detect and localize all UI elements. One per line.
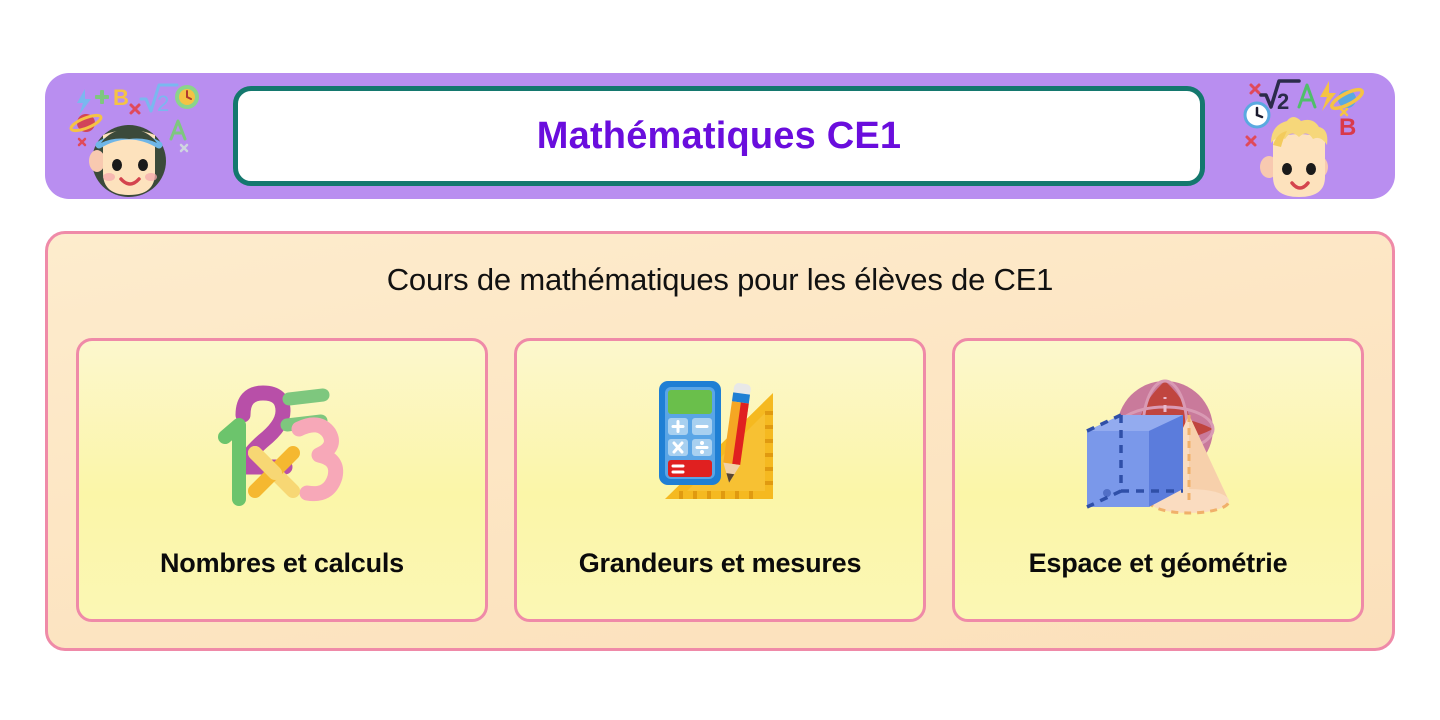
svg-text:B: B (113, 85, 129, 110)
page-title-box: Mathématiques CE1 (233, 86, 1205, 186)
calculator-pencil-ruler-icon (635, 367, 805, 517)
svg-text:2: 2 (1277, 89, 1289, 114)
3d-shapes-sphere-cube-cone-icon (1073, 367, 1243, 517)
student-boy-with-math-symbols-illustration: 2 B (1207, 73, 1387, 199)
topic-card-grandeurs-et-mesures[interactable]: Grandeurs et mesures (514, 338, 926, 622)
panel-subtitle: Cours de mathématiques pour les élèves d… (48, 262, 1392, 298)
page-root: B 2 (0, 0, 1440, 720)
header-bar: B 2 (45, 73, 1395, 199)
topic-card-label: Nombres et calculs (79, 548, 485, 579)
topic-card-label: Grandeurs et mesures (517, 548, 923, 579)
svg-text:B: B (1339, 114, 1356, 141)
page-title: Mathématiques CE1 (537, 115, 902, 158)
topic-card-label: Espace et géométrie (955, 548, 1361, 579)
student-girl-with-math-symbols-illustration: B 2 (53, 73, 233, 199)
topic-cards-row: Nombres et calculs (76, 338, 1364, 622)
topic-card-nombres-et-calculs[interactable]: Nombres et calculs (76, 338, 488, 622)
topic-card-espace-et-geometrie[interactable]: Espace et géométrie (952, 338, 1364, 622)
main-content-panel: Cours de mathématiques pour les élèves d… (45, 231, 1395, 651)
svg-text:2: 2 (157, 91, 169, 116)
colorful-numbers-123-icon (197, 367, 367, 517)
